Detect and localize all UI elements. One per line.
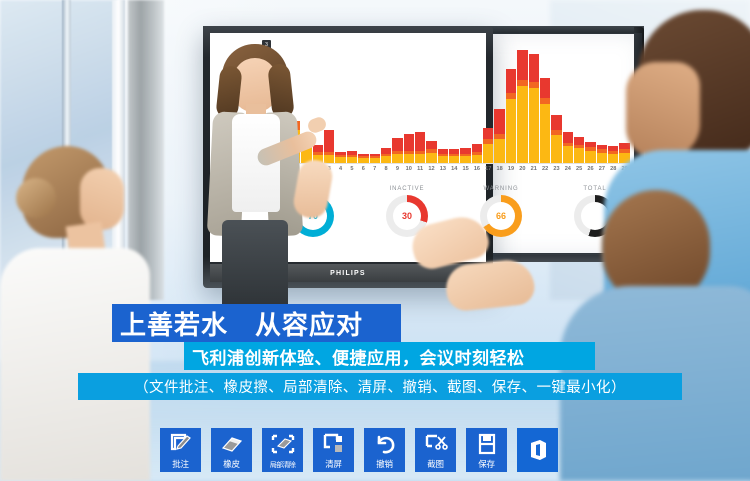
headline-line1: 上善若水 从容应对	[112, 305, 363, 342]
chart-x-tick: 18	[494, 166, 504, 180]
chart-x-tick: 21	[529, 166, 539, 180]
chart-bar-segment	[563, 132, 573, 143]
chart-bar	[449, 149, 459, 164]
chart-bar	[529, 54, 539, 164]
chart-bar	[574, 137, 584, 164]
chart-bar	[551, 115, 561, 164]
clear-screen-icon	[321, 432, 347, 456]
chart-x-tick: 22	[540, 166, 550, 180]
chart-bar-segment	[426, 141, 436, 150]
chart-x-tick: 20	[517, 166, 527, 180]
stacked-bar-chart: 0123456789101112131415161718192021222324…	[290, 42, 630, 182]
chart-bar	[438, 149, 448, 164]
chart-bar-segment	[472, 144, 482, 152]
chart-bar-segment	[574, 137, 584, 145]
foreground-woman-left	[0, 120, 164, 481]
screenshot-scissors-icon	[423, 432, 449, 456]
chart-x-tick: 16	[472, 166, 482, 180]
headline-line3: （文件批注、橡皮擦、局部清除、清屏、撤销、截图、保存、一键最小化）	[134, 376, 626, 397]
pen-annotate-icon	[168, 432, 194, 456]
chart-bar	[563, 132, 573, 164]
chart-x-tick: 23	[551, 166, 561, 180]
chart-bar	[404, 134, 414, 164]
chart-bar	[381, 148, 391, 164]
chart-bar-segment	[551, 115, 561, 131]
chart-bar-segment	[551, 135, 561, 164]
chart-bar	[506, 69, 516, 164]
foreground-hands	[406, 186, 616, 366]
fg-left-body	[0, 248, 150, 481]
chart-x-tick: 4	[335, 166, 345, 180]
chart-bar-segment	[404, 134, 414, 151]
fg-right-face	[626, 62, 700, 158]
presenter-skirt	[222, 220, 288, 306]
chart-bar-segment	[324, 130, 334, 151]
chart-bars	[290, 52, 630, 164]
tool-button-label: 撤销	[364, 458, 405, 470]
headline-band-features: （文件批注、橡皮擦、局部清除、清屏、撤销、截图、保存、一键最小化）	[78, 373, 682, 400]
chart-bar-segment	[392, 138, 402, 150]
chart-bar-segment	[517, 50, 527, 80]
tool-button-label: 局部清除	[262, 460, 303, 470]
chart-bar-segment	[483, 128, 493, 139]
tool-button-label: 批注	[160, 458, 201, 470]
chart-bar	[517, 50, 527, 164]
philips-logo: PHILIPS	[330, 270, 366, 277]
chart-bar	[472, 144, 482, 164]
fg-hand-lower	[444, 258, 536, 313]
tool-button-批注[interactable]: 批注	[160, 428, 201, 472]
chart-x-tick: 11	[415, 166, 425, 180]
chart-x-tick: 5	[347, 166, 357, 180]
headline-band-secondary: 飞利浦创新体验、便捷应用，会议时刻轻松	[184, 342, 595, 370]
presenter-hair-right	[267, 63, 295, 119]
chart-bar	[324, 130, 334, 164]
chart-bar-segment	[506, 99, 516, 164]
chart-bar-segment	[517, 86, 527, 164]
chart-x-tick: 15	[460, 166, 470, 180]
chart-bar	[426, 141, 436, 165]
headline-band-primary: 上善若水 从容应对	[112, 304, 401, 342]
tool-button-label: 保存	[466, 458, 507, 470]
chart-x-tick: 17	[483, 166, 493, 180]
chart-x-tick: 7	[370, 166, 380, 180]
save-floppy-icon	[474, 432, 500, 456]
chart-bar	[483, 128, 493, 164]
tool-button-橡皮[interactable]: 橡皮	[211, 428, 252, 472]
chart-bar-segment	[540, 78, 550, 98]
chart-x-tick: 9	[392, 166, 402, 180]
chart-x-tick: 8	[381, 166, 391, 180]
undo-icon	[372, 432, 398, 456]
chart-bar-segment	[415, 132, 425, 151]
feature-toolbar[interactable]: 批注橡皮局部清除清屏撤销截图保存	[160, 428, 590, 473]
chart-bar	[415, 132, 425, 164]
chart-x-axis: 0123456789101112131415161718192021222324…	[290, 163, 630, 180]
tool-button-office[interactable]	[517, 428, 558, 472]
chart-bar	[540, 78, 550, 164]
chart-bar-segment	[494, 109, 504, 134]
tool-button-局部清除[interactable]: 局部清除	[262, 428, 303, 472]
partial-erase-icon	[270, 432, 296, 456]
tool-button-label: 截图	[415, 458, 456, 470]
headline-line2: 飞利浦创新体验、便捷应用，会议时刻轻松	[184, 344, 525, 369]
chart-bar-segment	[494, 139, 504, 164]
promo-banner: PHILIPS 3 2 0123456789101112131415161718…	[0, 0, 750, 481]
chart-bar-segment	[574, 148, 584, 164]
chart-x-tick: 14	[449, 166, 459, 180]
chart-bar-segment	[313, 145, 323, 152]
chart-x-tick: 13	[438, 166, 448, 180]
chart-bar-segment	[506, 69, 516, 94]
chart-x-tick: 12	[426, 166, 436, 180]
chart-bar	[460, 148, 470, 164]
office-logo-icon	[525, 438, 551, 462]
chart-bar	[494, 109, 504, 164]
chart-bar-segment	[529, 54, 539, 82]
tool-button-撤销[interactable]: 撤销	[364, 428, 405, 472]
chart-x-tick: 10	[404, 166, 414, 180]
chart-bar-segment	[563, 146, 573, 164]
fg-left-hair-bun	[16, 178, 56, 218]
chart-x-tick: 24	[563, 166, 573, 180]
chart-bar-segment	[483, 144, 493, 164]
chart-bar	[347, 151, 357, 164]
chart-x-tick: 19	[506, 166, 516, 180]
tool-button-保存[interactable]: 保存	[466, 428, 507, 472]
chart-x-tick: 25	[574, 166, 584, 180]
tool-button-截图[interactable]: 截图	[415, 428, 456, 472]
chart-bar-segment	[529, 88, 539, 164]
tool-button-清屏[interactable]: 清屏	[313, 428, 354, 472]
presenter-hair-left	[215, 65, 242, 119]
chart-x-tick: 6	[358, 166, 368, 180]
fg-left-face	[80, 168, 124, 230]
chart-bar-segment	[540, 104, 550, 164]
eraser-icon	[219, 432, 245, 456]
tool-button-label: 橡皮	[211, 458, 252, 470]
chart-bar	[392, 138, 402, 164]
presenter-woman	[196, 44, 314, 306]
tool-button-label: 清屏	[313, 458, 354, 470]
